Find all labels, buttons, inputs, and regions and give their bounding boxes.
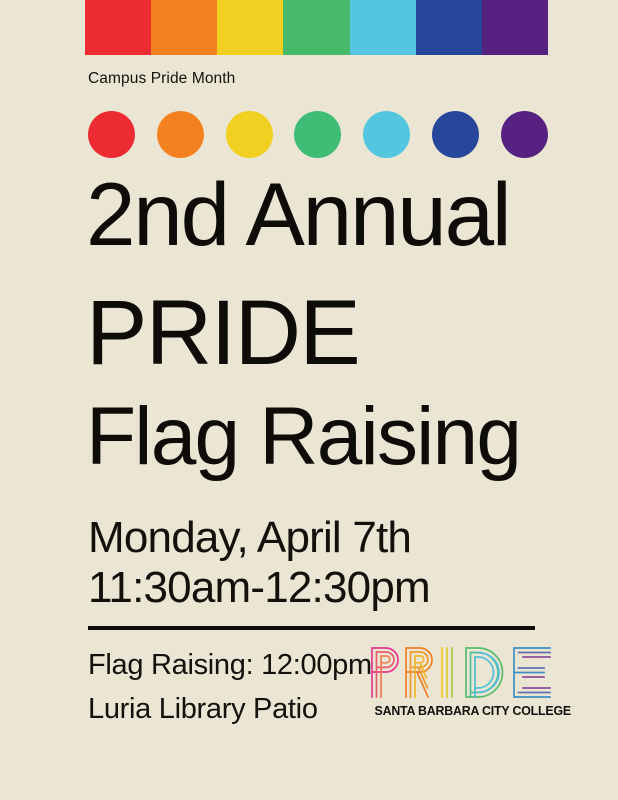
logo-subtitle: SANTA BARBARA CITY COLLEGE	[375, 703, 548, 718]
stripe-red	[85, 0, 151, 55]
stripe-purple	[482, 0, 548, 55]
sbcc-pride-logo: SANTA BARBARA CITY COLLEGE	[368, 644, 554, 724]
dot-orange	[157, 111, 204, 158]
pride-logo-wordmark-icon	[368, 644, 554, 700]
detail-location: Luria Library Patio	[88, 688, 372, 732]
top-rainbow-bar	[85, 0, 548, 55]
detail-flag-raising-time: Flag Raising: 12:00pm	[88, 644, 372, 688]
dot-cyan	[363, 111, 410, 158]
pride-poster: Campus Pride Month 2nd Annual PRIDE Flag…	[0, 0, 618, 800]
logo-letter-d	[466, 648, 502, 697]
dot-blue	[432, 111, 479, 158]
event-date: Monday, April 7th	[88, 513, 430, 563]
divider-rule	[88, 626, 535, 630]
stripe-orange	[151, 0, 217, 55]
event-time: 11:30am-12:30pm	[88, 563, 430, 613]
headline-pride: PRIDE	[86, 290, 359, 376]
event-datetime: Monday, April 7th 11:30am-12:30pm	[88, 513, 430, 613]
logo-letter-p	[372, 648, 398, 697]
rainbow-dot-row	[88, 111, 548, 159]
dot-red	[88, 111, 135, 158]
headline-annual: 2nd Annual	[86, 173, 509, 257]
dot-yellow	[226, 111, 273, 158]
stripe-green	[283, 0, 349, 55]
stripe-blue	[416, 0, 482, 55]
logo-letter-e	[514, 648, 550, 697]
dot-purple	[501, 111, 548, 158]
headline-flag-raising: Flag Raising	[86, 398, 520, 477]
dot-green	[294, 111, 341, 158]
logo-letter-r	[406, 648, 432, 697]
stripe-yellow	[217, 0, 283, 55]
logo-letter-i	[442, 648, 452, 697]
event-details: Flag Raising: 12:00pm Luria Library Pati…	[88, 644, 372, 731]
kicker-text: Campus Pride Month	[88, 70, 235, 88]
stripe-cyan	[350, 0, 416, 55]
